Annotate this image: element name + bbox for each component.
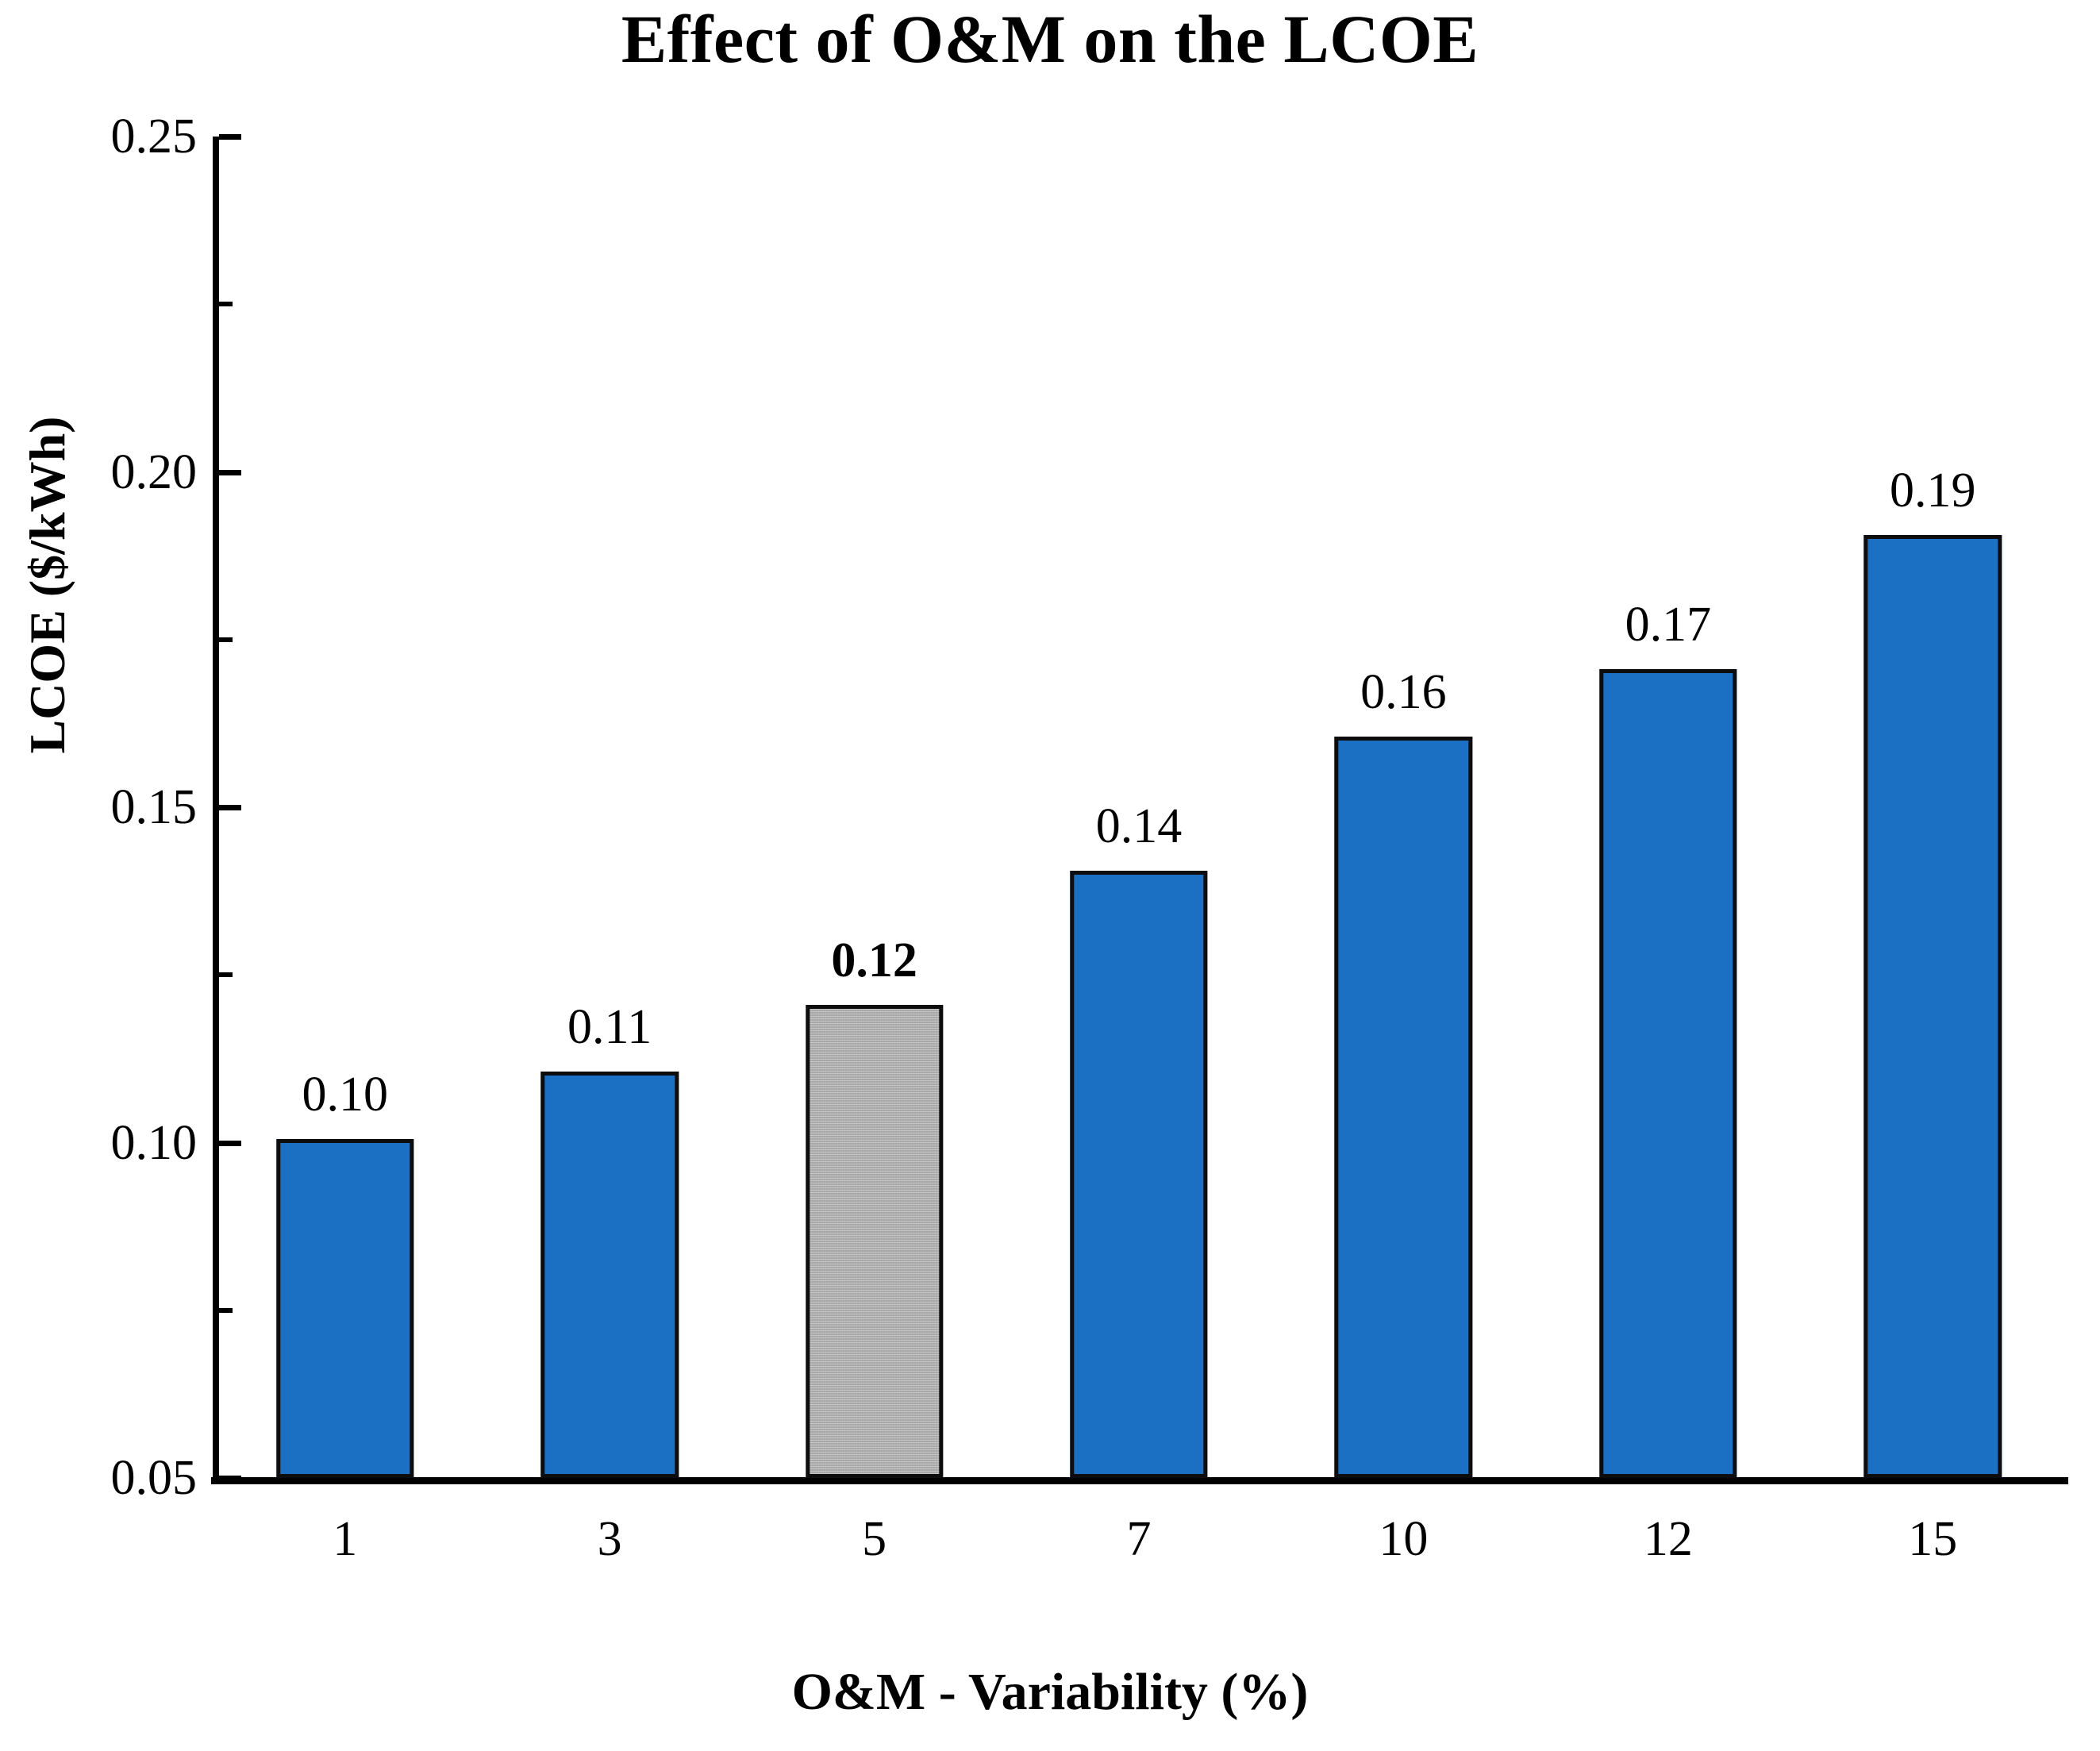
bar[interactable] bbox=[1335, 737, 1472, 1479]
bar[interactable] bbox=[276, 1139, 413, 1479]
x-tick-label: 7 bbox=[1127, 1514, 1152, 1564]
y-tick-minor bbox=[219, 1308, 233, 1313]
y-tick-label: 0.25 bbox=[111, 112, 198, 161]
x-tick-label: 5 bbox=[862, 1514, 887, 1564]
bar-value-label: 0.12 bbox=[831, 936, 917, 985]
y-tick-major: 0.25 bbox=[219, 134, 241, 140]
chart-title: Effect of O&M on the LCOE bbox=[0, 5, 2100, 73]
bar-value-label: 0.19 bbox=[1890, 466, 1976, 515]
y-axis-line bbox=[213, 137, 219, 1481]
x-tick-label: 10 bbox=[1379, 1514, 1428, 1564]
bar-value-label: 0.16 bbox=[1360, 668, 1447, 717]
x-tick-label: 15 bbox=[1908, 1514, 1957, 1564]
bar-value-label: 0.14 bbox=[1096, 802, 1183, 851]
bar-value-label: 0.17 bbox=[1625, 600, 1712, 649]
y-tick-label: 0.20 bbox=[111, 448, 198, 497]
y-tick-minor bbox=[219, 972, 233, 977]
y-tick-label: 0.05 bbox=[111, 1453, 198, 1503]
y-tick-minor bbox=[219, 302, 233, 306]
x-tick-label: 12 bbox=[1644, 1514, 1693, 1564]
x-axis-line bbox=[211, 1477, 2068, 1484]
bar[interactable] bbox=[1599, 669, 1737, 1478]
plot-area: 0.250.200.150.100.05 1357101215 0.100.11… bbox=[213, 137, 2065, 1478]
bar[interactable] bbox=[1070, 871, 1207, 1479]
y-tick-label: 0.10 bbox=[111, 1118, 198, 1168]
bar[interactable] bbox=[1864, 535, 2002, 1478]
y-tick-major: 0.20 bbox=[219, 470, 241, 475]
x-tick-label: 1 bbox=[333, 1514, 357, 1564]
bar[interactable] bbox=[806, 1005, 943, 1479]
y-tick-minor bbox=[219, 637, 233, 642]
chart-figure: Effect of O&M on the LCOE LCOE ($/kWh) 0… bbox=[0, 0, 2100, 1751]
x-tick-label: 3 bbox=[598, 1514, 622, 1564]
y-tick-major: 0.05 bbox=[219, 1476, 241, 1481]
y-axis-title: LCOE ($/kWh) bbox=[18, 307, 77, 863]
y-tick-major: 0.10 bbox=[219, 1141, 241, 1146]
x-axis-title: O&M - Variability (%) bbox=[0, 1662, 2100, 1722]
bar-value-label: 0.11 bbox=[567, 1002, 652, 1052]
y-tick-label: 0.15 bbox=[111, 783, 198, 832]
bar-value-label: 0.10 bbox=[302, 1070, 388, 1119]
bar[interactable] bbox=[540, 1072, 678, 1478]
y-tick-major: 0.15 bbox=[219, 805, 241, 810]
